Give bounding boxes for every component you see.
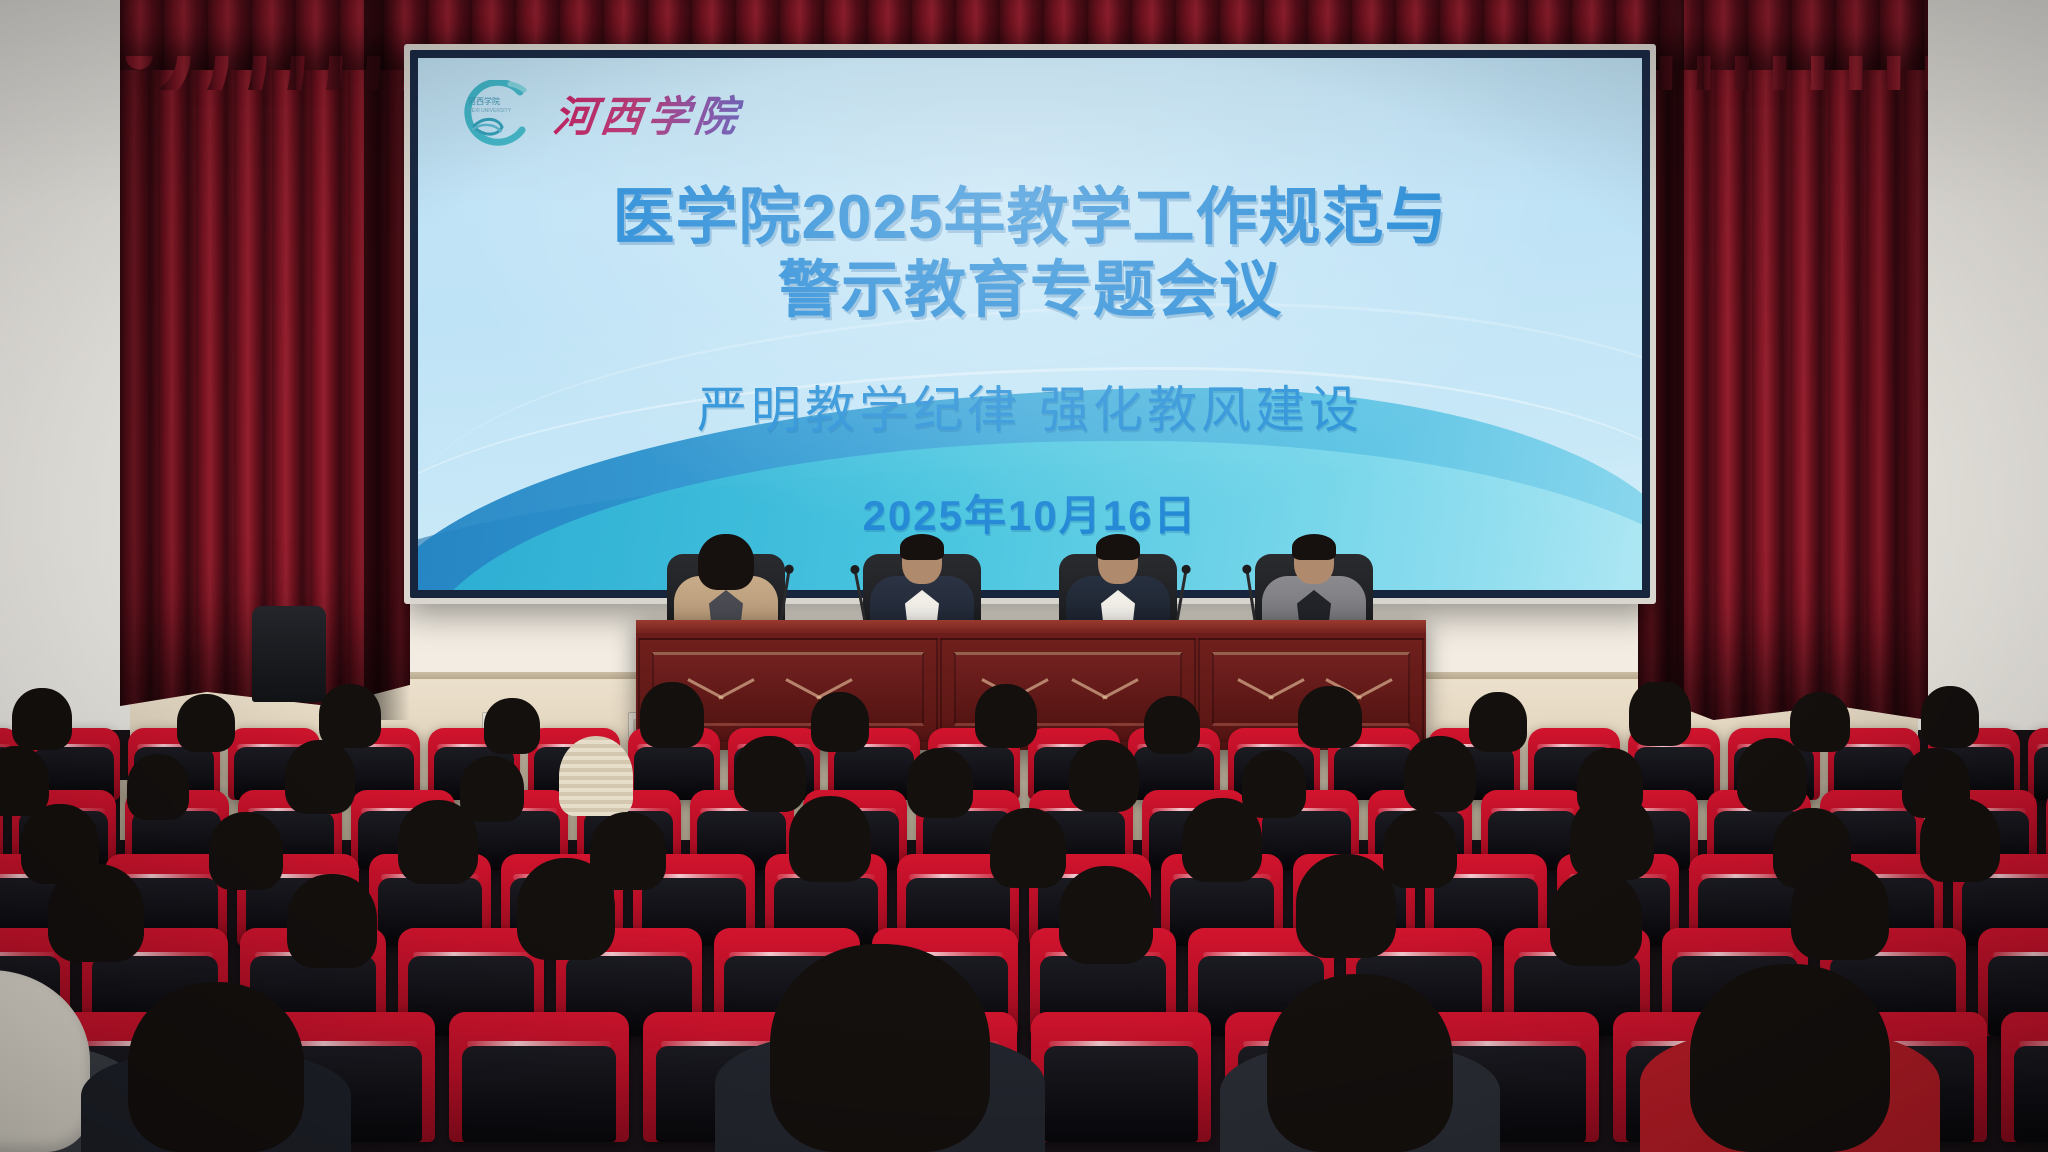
hexi-university-emblem-icon: 河西学院 HEXI UNIVERSITY bbox=[458, 80, 538, 146]
presentation-slide: 河西学院 HEXI UNIVERSITY 河西学院 医学院2025年教学工作规范… bbox=[418, 58, 1642, 590]
auditorium-photo: 河西学院 HEXI UNIVERSITY 河西学院 医学院2025年教学工作规范… bbox=[0, 0, 2048, 1152]
slide-title: 医学院2025年教学工作规范与 警示教育专题会议 bbox=[418, 182, 1642, 327]
university-wordmark: 河西学院 bbox=[550, 83, 746, 144]
slide-subtitle: 严明教学纪律 强化教风建设 bbox=[418, 370, 1642, 442]
panel-hair bbox=[900, 534, 944, 560]
svg-text:河西学院: 河西学院 bbox=[468, 96, 500, 106]
table-top-edge bbox=[636, 620, 1426, 633]
seat bbox=[1031, 1012, 1211, 1142]
seat bbox=[2001, 1012, 2048, 1142]
seat bbox=[449, 1012, 629, 1142]
audience-seating bbox=[0, 682, 2048, 1152]
svg-text:HEXI UNIVERSITY: HEXI UNIVERSITY bbox=[468, 108, 512, 114]
slide-title-line-2: 警示教育专题会议 bbox=[418, 255, 1642, 328]
panel-hair bbox=[1096, 534, 1140, 560]
panel-hair bbox=[1292, 534, 1336, 560]
slide-title-line-1: 医学院2025年教学工作规范与 bbox=[418, 182, 1642, 255]
slide-brand-lockup: 河西学院 HEXI UNIVERSITY 河西学院 bbox=[458, 80, 742, 146]
panel-hair bbox=[698, 534, 754, 590]
